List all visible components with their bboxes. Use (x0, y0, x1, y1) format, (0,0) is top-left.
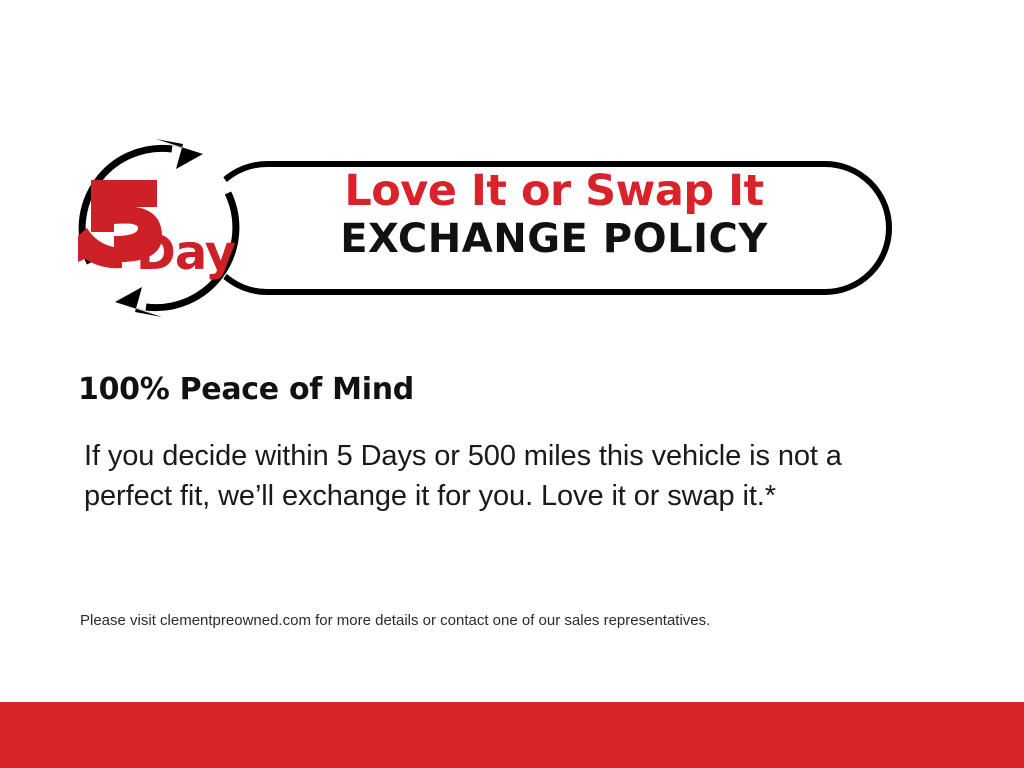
exchange-policy-badge: Love It or Swap It EXCHANGE POLICY (64, 128, 844, 328)
headline-love-it-or-swap-it: Love It or Swap It (274, 166, 834, 216)
circular-exchange-arrows-icon: Day (64, 128, 254, 328)
policy-description-paragraph: If you decide within 5 Days or 500 miles… (84, 436, 874, 516)
headline-exchange-policy: EXCHANGE POLICY (274, 216, 834, 262)
footer-brand-bar (0, 702, 1024, 768)
policy-footnote: Please visit clementpreowned.com for mor… (80, 610, 940, 632)
peace-of-mind-heading: 100% Peace of Mind (78, 371, 414, 409)
logo-day-label: Day (136, 225, 236, 281)
policy-headline-group: Love It or Swap It EXCHANGE POLICY (274, 166, 834, 262)
